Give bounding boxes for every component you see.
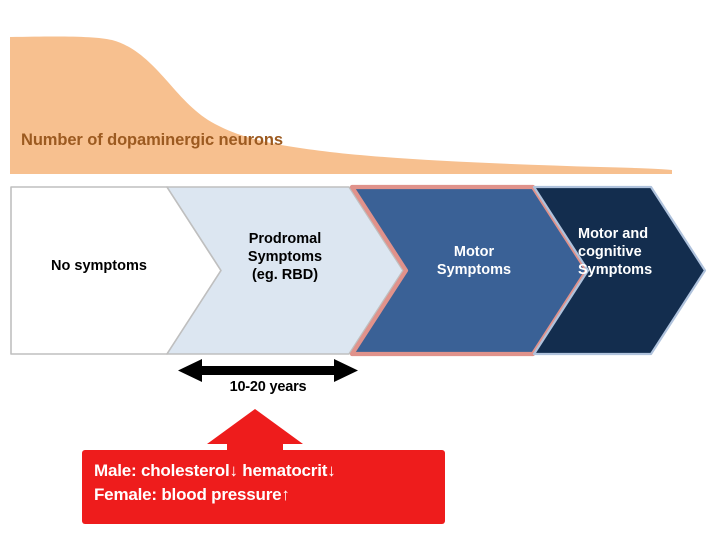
callout-up-arrow — [207, 409, 303, 452]
callout-line-female: Female: blood pressure↑ — [94, 483, 444, 507]
callout-text-block: Male: cholesterol↓ hematocrit↓ Female: b… — [94, 459, 444, 507]
figure-canvas: Number of dopaminergic neurons No sympto… — [0, 0, 720, 540]
callout-line-male: Male: cholesterol↓ hematocrit↓ — [94, 459, 444, 483]
